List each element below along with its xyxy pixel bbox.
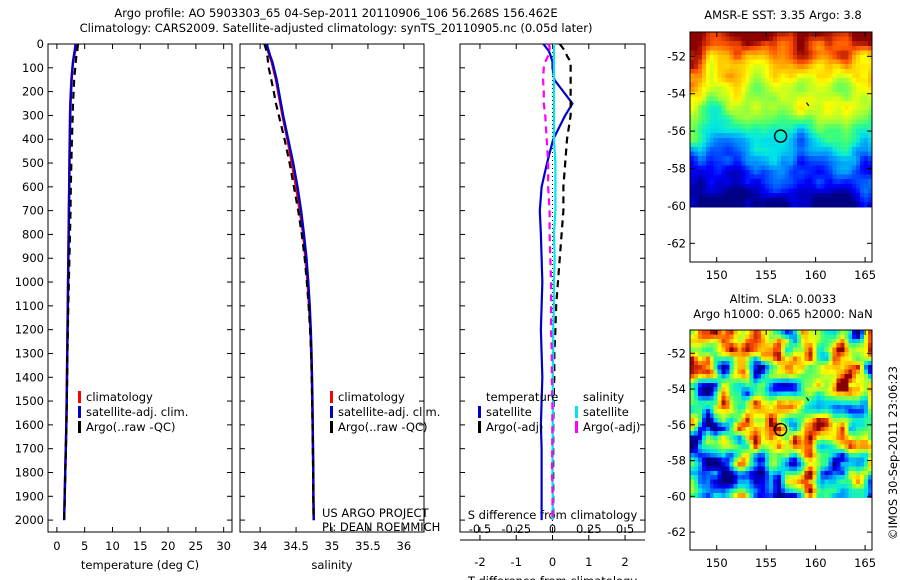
t-diff-tick-label: 0 (549, 555, 556, 569)
depth-tick-label: 1000 (15, 275, 44, 289)
legend-swatch-satellite (78, 406, 81, 418)
map-lat-tick-label: -54 (667, 382, 686, 396)
legend-label-temp-argo: Argo(-adj) (486, 420, 543, 434)
salinity-legend: climatology satellite-adj. clim. Argo(..… (330, 389, 440, 434)
s-diff-tick-label: 0.25 (576, 522, 602, 536)
legend-header-salinity: salinity (575, 389, 640, 404)
sla-map-panel[interactable]: 150155160165-52-54-56-58-60-62 (660, 322, 900, 580)
difference-curve (553, 44, 570, 520)
legend-label-salinity-header: salinity (583, 390, 624, 404)
x-tick-label: 5 (81, 539, 88, 553)
difference-profile-panel[interactable]: -2-1012T difference from climatology-0.5… (452, 36, 672, 580)
map-lon-tick-label: 155 (755, 268, 777, 282)
map-lat-tick-label: -54 (667, 87, 686, 101)
depth-tick-label: 800 (22, 227, 44, 241)
legend-swatch-argo (78, 421, 81, 433)
legend-swatch-sal-argo (575, 421, 578, 433)
x-tick-label: 30 (216, 539, 231, 553)
depth-tick-label: 1200 (15, 323, 44, 337)
title-line-1: Argo profile: AO 5903303_65 04-Sep-2011 … (0, 6, 672, 21)
t-diff-tick-label: 2 (621, 555, 628, 569)
t-diff-tick-label: -2 (474, 555, 485, 569)
x-axis-label: salinity (311, 558, 352, 572)
legend-label-sal-satellite: satellite (583, 405, 629, 419)
legend-item-sal-argo: Argo(-adj) (575, 419, 640, 434)
x-tick-label: 25 (189, 539, 204, 553)
map-lat-tick-label: -62 (667, 236, 686, 250)
legend-label-satellite: satellite-adj. clim. (86, 405, 188, 419)
project-pi: PI: DEAN ROEMMICH (322, 520, 440, 534)
difference-curve (543, 44, 552, 520)
sla-map-title-line-2: Argo h1000: 0.065 h2000: NaN (672, 307, 894, 322)
s-diff-tick-label: -0.5 (469, 522, 491, 536)
x-tick-label: 10 (105, 539, 120, 553)
map-lon-tick-label: 150 (706, 268, 728, 282)
t-diff-tick-label: 1 (585, 555, 592, 569)
sla-map-title: Altim. SLA: 0.0033 Argo h1000: 0.065 h20… (672, 292, 894, 322)
legend-label-temperature-header: temperature (486, 390, 558, 404)
legend-item-argo: Argo(..raw -QC) (78, 419, 188, 434)
depth-tick-label: 1800 (15, 465, 44, 479)
sla-map-title-line-1: Altim. SLA: 0.0033 (672, 292, 894, 307)
legend-item-temp-argo: Argo(-adj) (478, 419, 558, 434)
map-lat-tick-label: -60 (667, 199, 686, 213)
plot-frame (240, 44, 424, 532)
legend-spacer-temperature (478, 391, 481, 403)
x-tick-label: 15 (133, 539, 148, 553)
depth-tick-label: 900 (22, 251, 44, 265)
depth-tick-label: 1400 (15, 370, 44, 384)
x-tick-label: 0 (53, 539, 60, 553)
temperature-legend: climatology satellite-adj. clim. Argo(..… (78, 389, 188, 434)
x-tick-label: 34 (253, 539, 268, 553)
map-lon-tick-label: 160 (805, 268, 827, 282)
map-lat-tick-label: -56 (667, 418, 686, 432)
salinity-curve (264, 44, 313, 520)
x-tick-label: 35 (325, 539, 340, 553)
legend-swatch-argo-sal (330, 421, 333, 433)
x-tick-label: 36 (397, 539, 412, 553)
depth-tick-label: 400 (22, 132, 44, 146)
map-lon-tick-label: 160 (805, 556, 827, 570)
map-lon-tick-label: 150 (706, 556, 728, 570)
map-lon-tick-label: 165 (854, 268, 876, 282)
legend-label-argo-sal: Argo(..raw -QC) (338, 420, 428, 434)
legend-header-temperature: temperature (478, 389, 558, 404)
depth-tick-label: 600 (22, 180, 44, 194)
legend-item-temp-satellite: satellite (478, 404, 558, 419)
salinity-profile-panel[interactable]: 3434.53535.536salinity (236, 36, 460, 580)
legend-swatch-climatology (78, 391, 81, 403)
depth-tick-label: 1600 (15, 418, 44, 432)
map-lat-tick-label: -52 (667, 346, 686, 360)
temperature-curve (64, 44, 75, 520)
legend-spacer-salinity (575, 391, 578, 403)
legend-item-satellite-sal: satellite-adj. clim. (330, 404, 440, 419)
legend-label-climatology-sal: climatology (338, 390, 405, 404)
sst-map-panel[interactable]: 150155160165-52-54-56-58-60-62 (660, 24, 900, 292)
depth-tick-label: 1100 (15, 299, 44, 313)
depth-tick-label: 200 (22, 85, 44, 99)
difference-legend-salinity: salinity satellite Argo(-adj) (575, 389, 640, 434)
s-diff-tick-label: 0.5 (616, 522, 634, 536)
map-lat-tick-label: -58 (667, 454, 686, 468)
imos-copyright: ©IMOS 30-Sep-2011 23:06:23 (886, 366, 900, 540)
map-lat-tick-label: -62 (667, 525, 686, 539)
x-axis-label: temperature (deg C) (81, 558, 199, 572)
legend-item-climatology: climatology (78, 389, 188, 404)
map-lon-tick-label: 165 (854, 556, 876, 570)
legend-label-argo: Argo(..raw -QC) (86, 420, 176, 434)
map-lat-tick-label: -58 (667, 162, 686, 176)
legend-swatch-climatology-sal (330, 391, 333, 403)
depth-tick-label: 1500 (15, 394, 44, 408)
legend-item-climatology-sal: climatology (330, 389, 440, 404)
difference-legend-temperature: temperature satellite Argo(-adj) (478, 389, 558, 434)
sst-map-title-text: AMSR-E SST: 3.35 Argo: 3.8 (704, 8, 861, 22)
page-title: Argo profile: AO 5903303_65 04-Sep-2011 … (0, 6, 672, 36)
legend-label-temp-satellite: satellite (486, 405, 532, 419)
legend-item-sal-satellite: satellite (575, 404, 640, 419)
project-credit: US ARGO PROJECT PI: DEAN ROEMMICH (322, 506, 440, 534)
legend-swatch-temp-argo (478, 421, 481, 433)
temperature-profile-panel[interactable]: 0100200300400500600700800900100011001200… (0, 36, 236, 580)
depth-tick-label: 1900 (15, 489, 44, 503)
depth-tick-label: 700 (22, 204, 44, 218)
legend-label-climatology: climatology (86, 390, 153, 404)
depth-tick-label: 1700 (15, 442, 44, 456)
depth-tick-label: 500 (22, 156, 44, 170)
legend-label-sal-argo: Argo(-adj) (583, 420, 640, 434)
depth-tick-label: 300 (22, 108, 44, 122)
project-name: US ARGO PROJECT (322, 506, 440, 520)
depth-tick-label: 100 (22, 61, 44, 75)
map-lat-tick-label: -56 (667, 124, 686, 138)
legend-swatch-temp-satellite (478, 406, 481, 418)
legend-label-satellite-sal: satellite-adj. clim. (338, 405, 440, 419)
legend-swatch-satellite-sal (330, 406, 333, 418)
x-tick-label: 35.5 (355, 539, 381, 553)
title-line-2: Climatology: CARS2009. Satellite-adjuste… (0, 21, 672, 36)
depth-tick-label: 2000 (15, 513, 44, 527)
legend-swatch-sal-satellite (575, 406, 578, 418)
depth-tick-label: 0 (37, 37, 44, 51)
sst-map-title: AMSR-E SST: 3.35 Argo: 3.8 (672, 8, 894, 23)
plot-frame (48, 44, 232, 532)
x-tick-label: 20 (161, 539, 176, 553)
t-diff-tick-label: -1 (510, 555, 521, 569)
t-diff-axis-label: T difference from climatology (467, 574, 638, 580)
map-lat-tick-label: -60 (667, 489, 686, 503)
depth-tick-label: 1300 (15, 346, 44, 360)
legend-item-satellite: satellite-adj. clim. (78, 404, 188, 419)
s-diff-tick-label: -0.25 (501, 522, 531, 536)
x-tick-label: 34.5 (283, 539, 309, 553)
map-lon-tick-label: 155 (755, 556, 777, 570)
legend-item-argo-sal: Argo(..raw -QC) (330, 419, 440, 434)
map-lat-tick-label: -52 (667, 49, 686, 63)
